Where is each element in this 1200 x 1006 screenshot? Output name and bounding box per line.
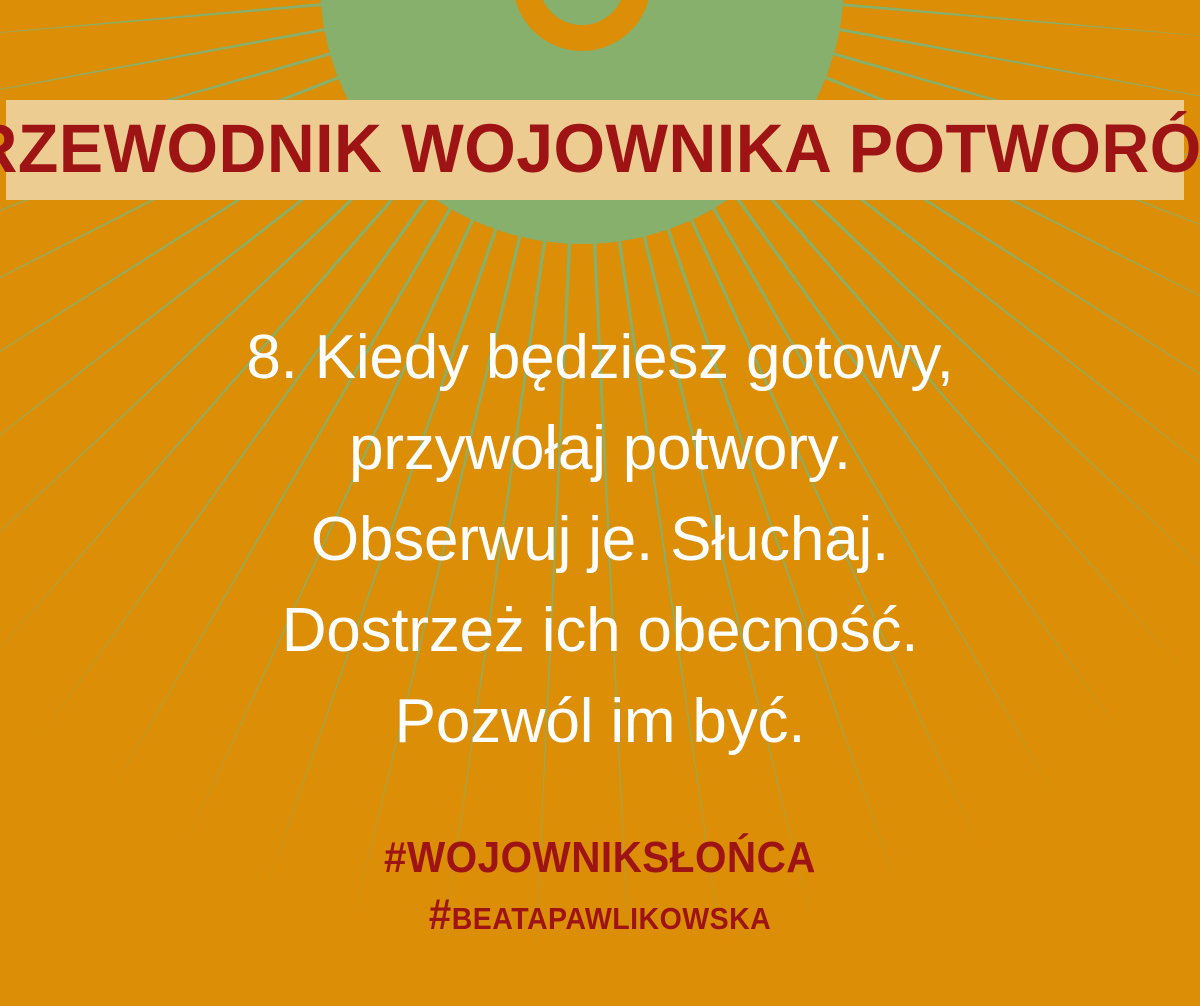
quote-line-3: Obserwuj je. Słuchaj. — [0, 494, 1200, 585]
poster-canvas: PRZEWODNIK WOJOWNIKA POTWORÓW 8. Kiedy b… — [0, 0, 1200, 1006]
quote-line-1: 8. Kiedy będziesz gotowy, — [0, 312, 1200, 403]
hashtag-block: #WOJOWNIKSŁOŃCA #BEATAPAWLIKOWSKA — [0, 830, 1200, 944]
sun-ray — [0, 0, 505, 114]
page-title: PRZEWODNIK WOJOWNIKA POTWORÓW — [0, 114, 1200, 187]
quote-line-5: Pozwól im być. — [0, 676, 1200, 767]
sun-ray — [0, 0, 504, 40]
hashtag-wojownikslonca: #WOJOWNIKSŁOŃCA — [48, 830, 1152, 886]
quote-line-2: przywołaj potwory. — [0, 403, 1200, 494]
sun-ray — [659, 0, 1200, 114]
quote-line-4: Dostrzeż ich obecność. — [0, 585, 1200, 676]
title-banner: PRZEWODNIK WOJOWNIKA POTWORÓW — [6, 100, 1184, 200]
quote-block: 8. Kiedy będziesz gotowy, przywołaj potw… — [0, 312, 1200, 767]
sun-ray — [660, 0, 1200, 40]
hashtag-beatapawlikowska: #BEATAPAWLIKOWSKA — [48, 886, 1152, 944]
